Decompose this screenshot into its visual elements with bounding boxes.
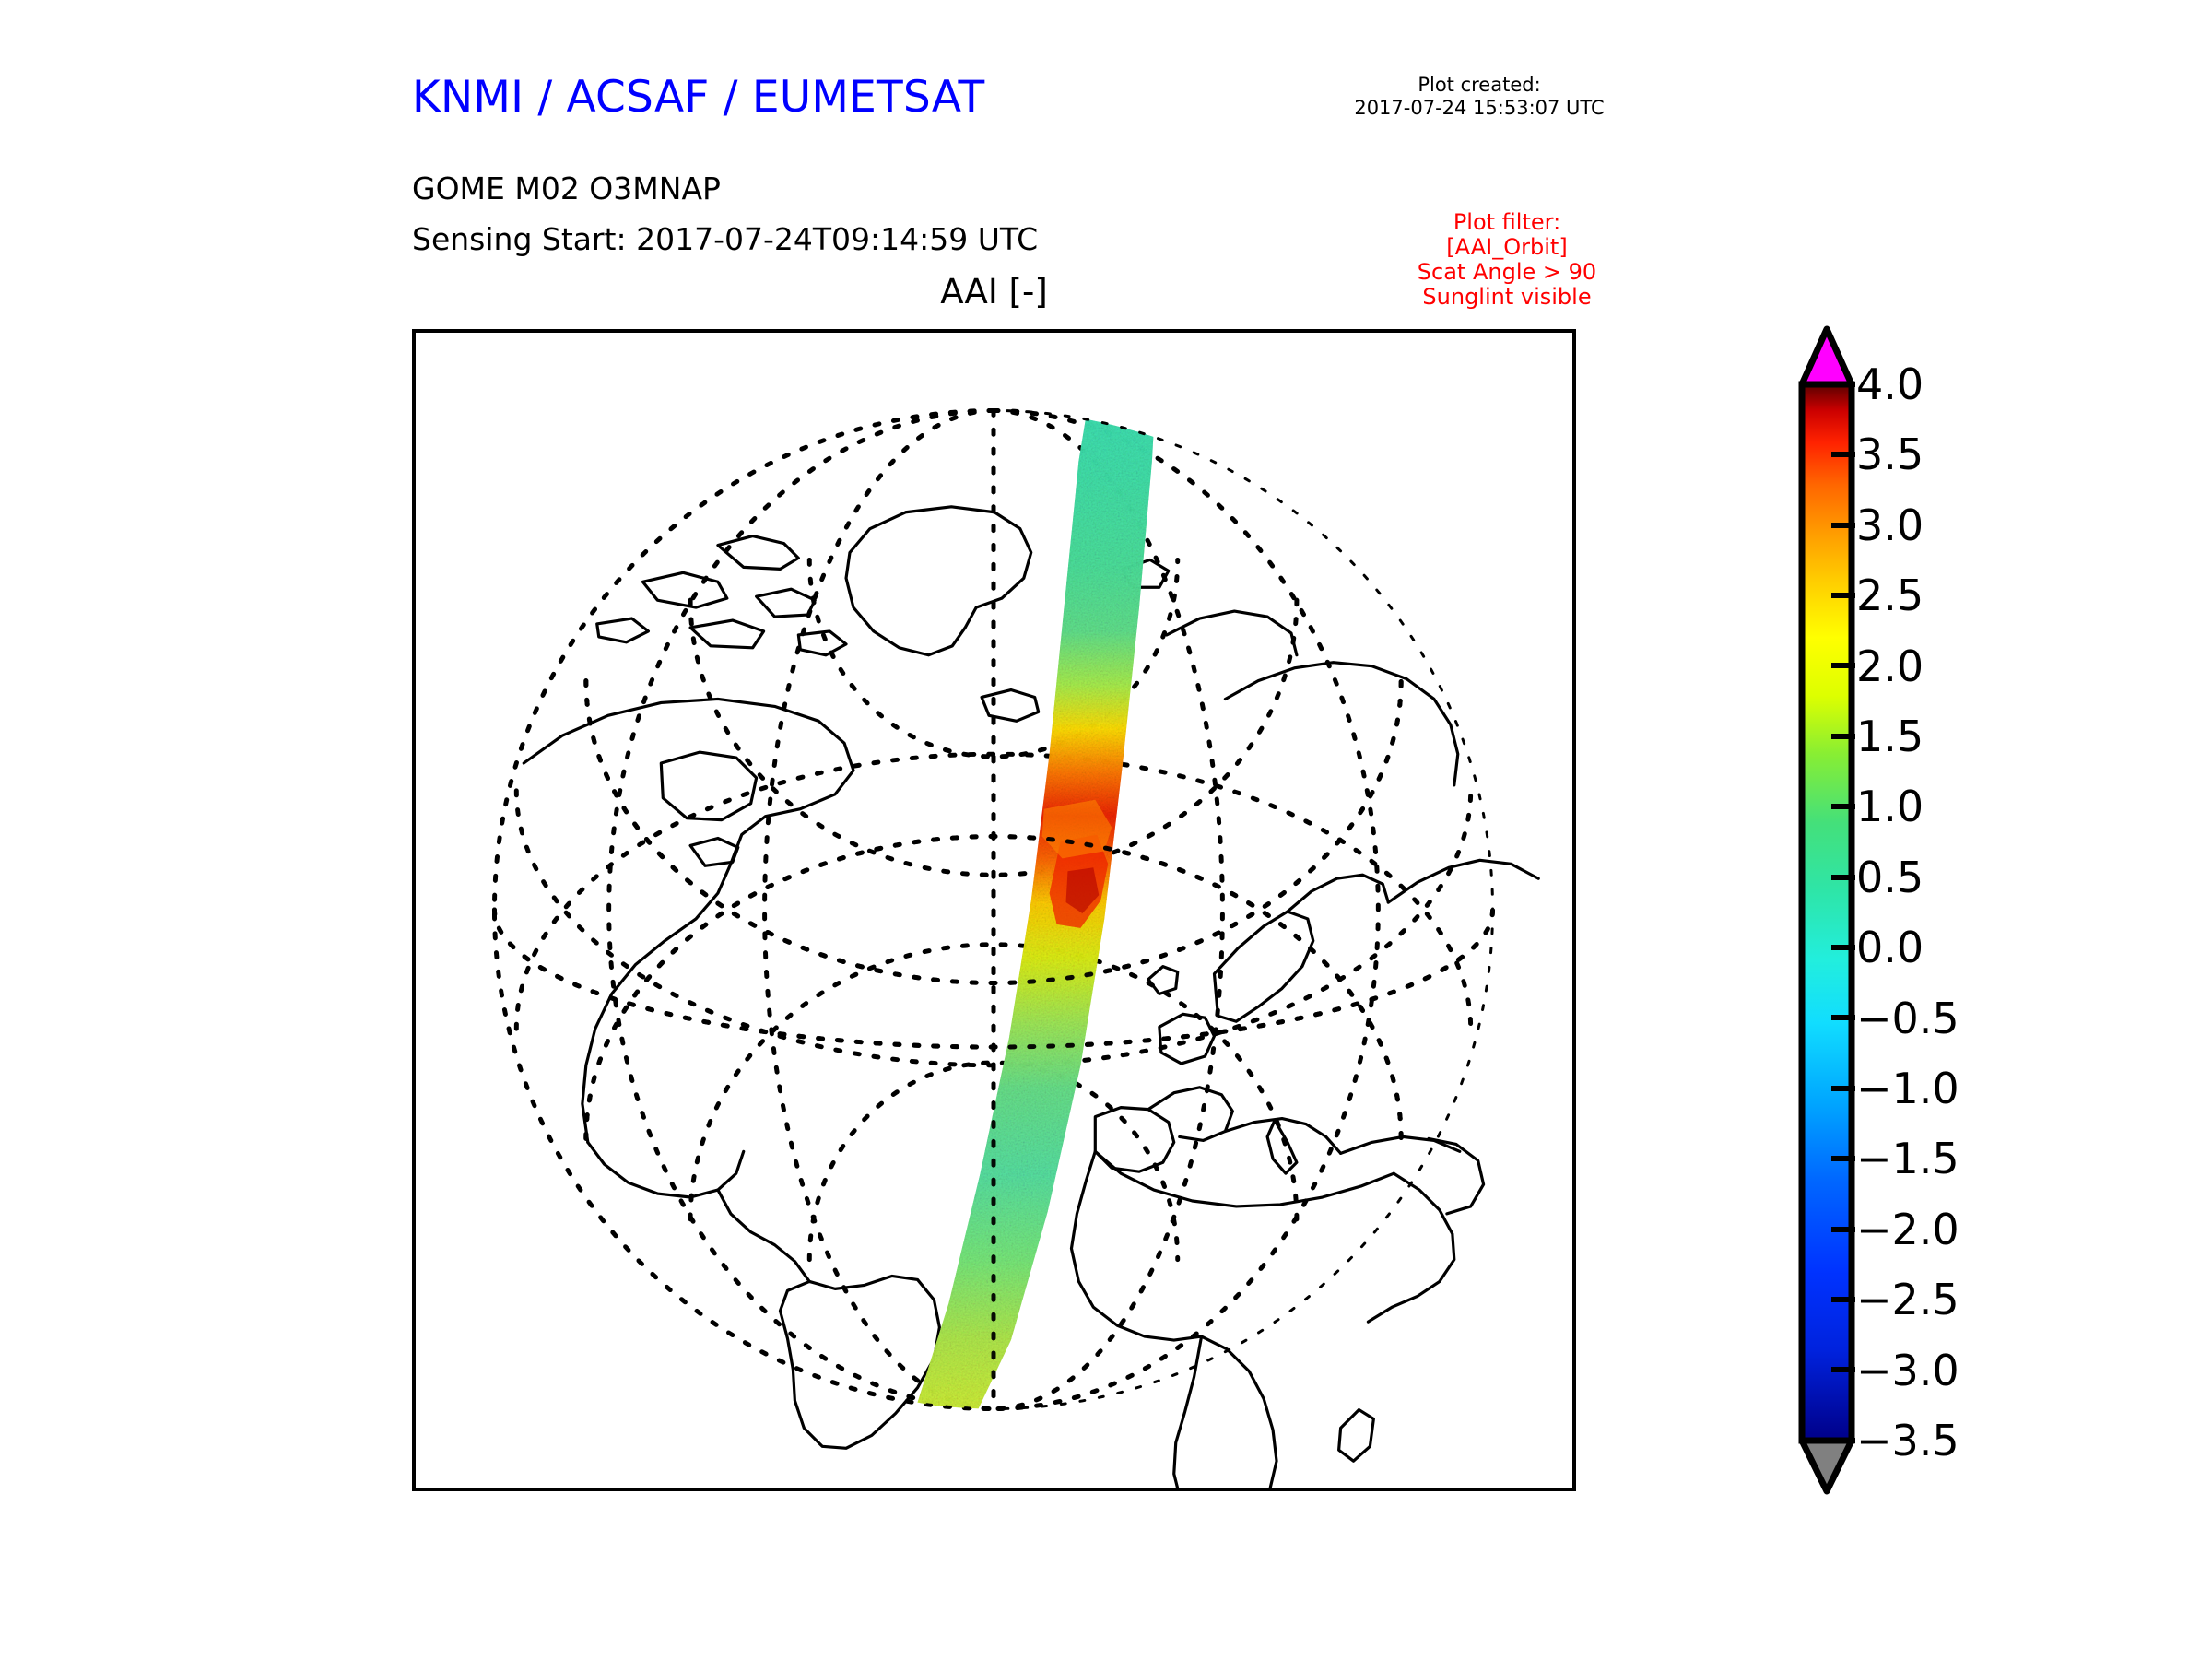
product-title: GOME M02 O3MNAP — [412, 171, 721, 206]
colorbar-ticklabel: −0.5 — [1856, 997, 1959, 1040]
colorbar-ticklabel: 2.0 — [1856, 645, 1924, 688]
colorbar-under-arrow — [1802, 1441, 1852, 1491]
plot-created-value: 2017-07-24 15:53:07 UTC — [1327, 97, 1631, 120]
colorbar-ticklabel: 3.0 — [1856, 504, 1924, 547]
orthographic-map — [416, 333, 1572, 1488]
colorbar-over-arrow — [1802, 329, 1852, 384]
colorbar-ticklabel: 1.0 — [1856, 785, 1924, 828]
colorbar-ticklabel: −3.0 — [1856, 1349, 1959, 1392]
colorbar-ticklabel: 0.5 — [1856, 856, 1924, 899]
sensing-start-label: Sensing Start: 2017-07-24T09:14:59 UTC — [412, 221, 1038, 257]
plot-filter-dataset: [AAI_Orbit] — [1373, 235, 1641, 260]
plot-filter-label: Plot filter: — [1373, 210, 1641, 235]
plot-created-block: Plot created: 2017-07-24 15:53:07 UTC — [1327, 74, 1631, 120]
colorbar-ticklabel: −2.0 — [1856, 1208, 1959, 1251]
colorbar-ticklabels: 4.03.53.02.52.01.51.00.50.0−0.5−1.0−1.5−… — [1856, 329, 2041, 1491]
chart-title: AAI [-] — [412, 272, 1576, 312]
colorbar-ticklabel: 4.0 — [1856, 363, 1924, 406]
colorbar-ticklabel: 2.5 — [1856, 574, 1924, 617]
colorbar-ticklabel: 0.0 — [1856, 926, 1924, 969]
map-plot-area — [412, 329, 1576, 1491]
org-title: KNMI / ACSAF / EUMETSAT — [412, 72, 984, 123]
colorbar-ticklabel: −3.5 — [1856, 1419, 1959, 1462]
satellite-swath — [918, 333, 1159, 1414]
colorbar-ticklabel: 3.5 — [1856, 433, 1924, 476]
plot-created-label: Plot created: — [1327, 74, 1631, 97]
colorbar-ticklabel: −1.0 — [1856, 1067, 1959, 1110]
colorbar-ticklabel: −2.5 — [1856, 1278, 1959, 1321]
colorbar-ticklabel: 1.5 — [1856, 715, 1924, 758]
colorbar-ticklabel: −1.5 — [1856, 1137, 1959, 1180]
colorbar — [1798, 329, 1855, 1491]
graticule-overlay — [494, 410, 1492, 1408]
colorbar-gradient — [1802, 384, 1852, 1441]
